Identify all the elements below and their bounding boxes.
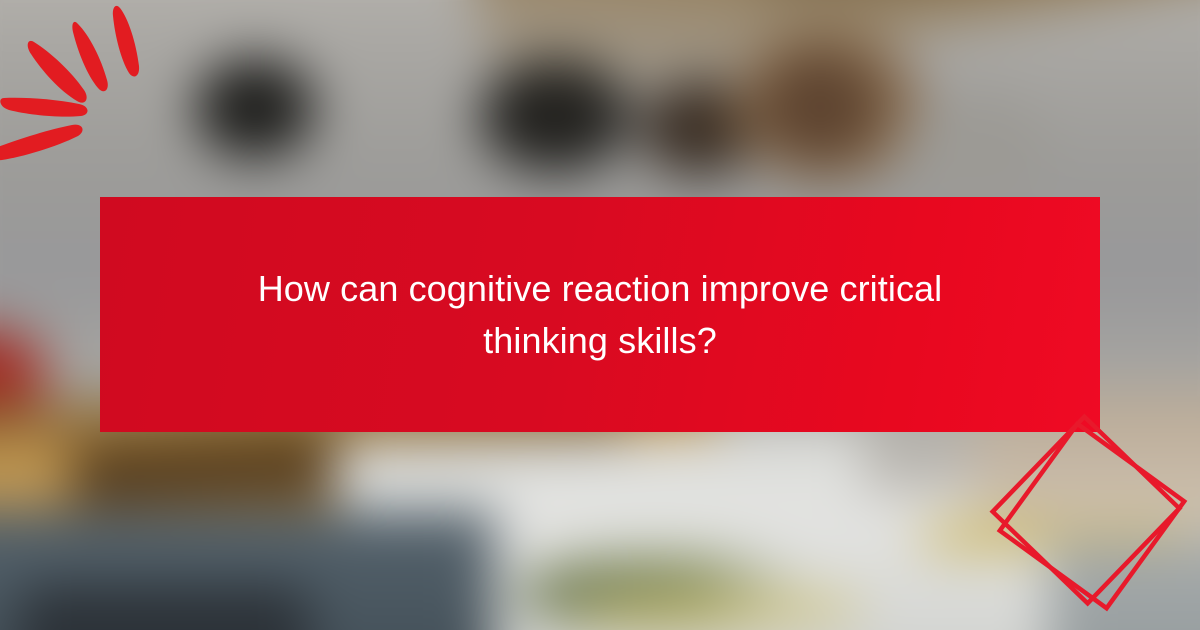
background-person-head-1 bbox=[195, 58, 315, 158]
background-right-cool bbox=[1049, 540, 1200, 630]
background-person-hair-4 bbox=[760, 52, 880, 162]
background-person-head-2 bbox=[480, 60, 630, 172]
headline-banner: How can cognitive reaction improve criti… bbox=[100, 197, 1100, 432]
background-counter-shadow bbox=[19, 585, 309, 630]
banner-canvas: How can cognitive reaction improve criti… bbox=[0, 0, 1200, 630]
background-person-head-5 bbox=[900, 90, 1050, 210]
headline-text: How can cognitive reaction improve criti… bbox=[220, 263, 980, 367]
